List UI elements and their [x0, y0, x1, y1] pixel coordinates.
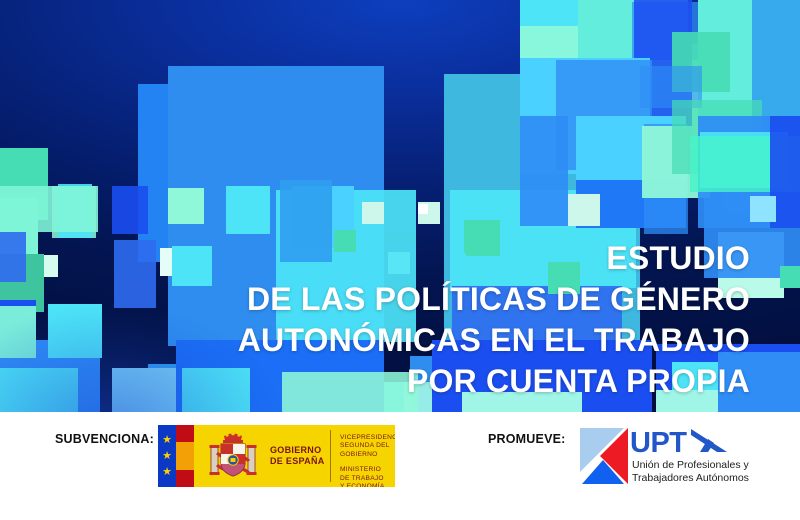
spanish-flag-red-band-top [176, 425, 194, 442]
ministerio-line-1: MINISTERIO [340, 466, 395, 474]
vicepresidencia-line-2: SEGUNDA DEL GOBIERNO [340, 442, 395, 459]
subvenciona-label: SUBVENCIONA: [55, 432, 154, 446]
ministry-spacer [340, 459, 395, 466]
upta-wordmark: UPT [630, 428, 780, 458]
title-line-2: DE LAS POLÍTICAS DE GÉNERO [40, 279, 750, 320]
mosaic-square [0, 186, 98, 232]
svg-text:UPT: UPT [630, 428, 687, 458]
poster-root: ESTUDIO DE LAS POLÍTICAS DE GÉNERO AUTON… [0, 0, 800, 520]
coat-of-arms-icon [206, 431, 260, 481]
logo-divider [330, 430, 331, 482]
mosaic-square [780, 266, 800, 288]
mosaic-square [418, 204, 428, 214]
title-line-3: AUTONÓMICAS EN EL TRABAJO [40, 320, 750, 361]
title-line-1: ESTUDIO [40, 238, 750, 279]
gobierno-de-espana-logo: ★ ★ ★ [158, 425, 395, 487]
spanish-flag-yellow-band [176, 442, 194, 470]
mosaic-square [168, 188, 204, 224]
mosaic-square [0, 306, 36, 358]
ministerio-line-2: DE TRABAJO [340, 475, 395, 483]
eu-flag-strip: ★ ★ ★ [158, 425, 176, 487]
mosaic-square [520, 116, 568, 226]
vicepresidencia-line-1: VICEPRESIDENCIA [340, 434, 395, 442]
ministry-text-block: VICEPRESIDENCIA SEGUNDA DEL GOBIERNO MIN… [340, 434, 395, 487]
title-line-4: POR CUENTA PROPIA [40, 361, 750, 402]
ministerio-line-3: Y ECONOMÍA SOCIAL [340, 483, 395, 487]
mosaic-square [226, 186, 270, 234]
gobierno-name: GOBIERNO DE ESPAÑA [270, 445, 325, 467]
upta-logo: UPT Unión de Profesionales y Trabajadore… [578, 426, 778, 492]
spanish-flag-red-band-bottom [176, 470, 194, 487]
upta-tagline-line-2: Trabajadores Autónomos [632, 472, 749, 485]
gobierno-name-line-1: GOBIERNO [270, 445, 325, 456]
upta-tagline: Unión de Profesionales y Trabajadores Au… [632, 459, 749, 485]
eu-star-icon: ★ [162, 452, 172, 461]
upta-tagline-line-1: Unión de Profesionales y [632, 459, 749, 472]
mosaic-square [0, 232, 26, 282]
mosaic-square [568, 194, 600, 226]
footer-bar: SUBVENCIONA: PROMUEVE: ★ ★ ★ [0, 412, 800, 520]
eu-star-icon: ★ [162, 436, 172, 445]
mosaic-square [750, 196, 776, 222]
mosaic-square [362, 202, 384, 224]
promueve-label: PROMUEVE: [488, 432, 566, 446]
gobierno-name-line-2: DE ESPAÑA [270, 456, 325, 467]
eu-star-icon: ★ [162, 468, 172, 477]
mosaic-square [112, 186, 148, 234]
page-title: ESTUDIO DE LAS POLÍTICAS DE GÉNERO AUTON… [40, 238, 750, 402]
